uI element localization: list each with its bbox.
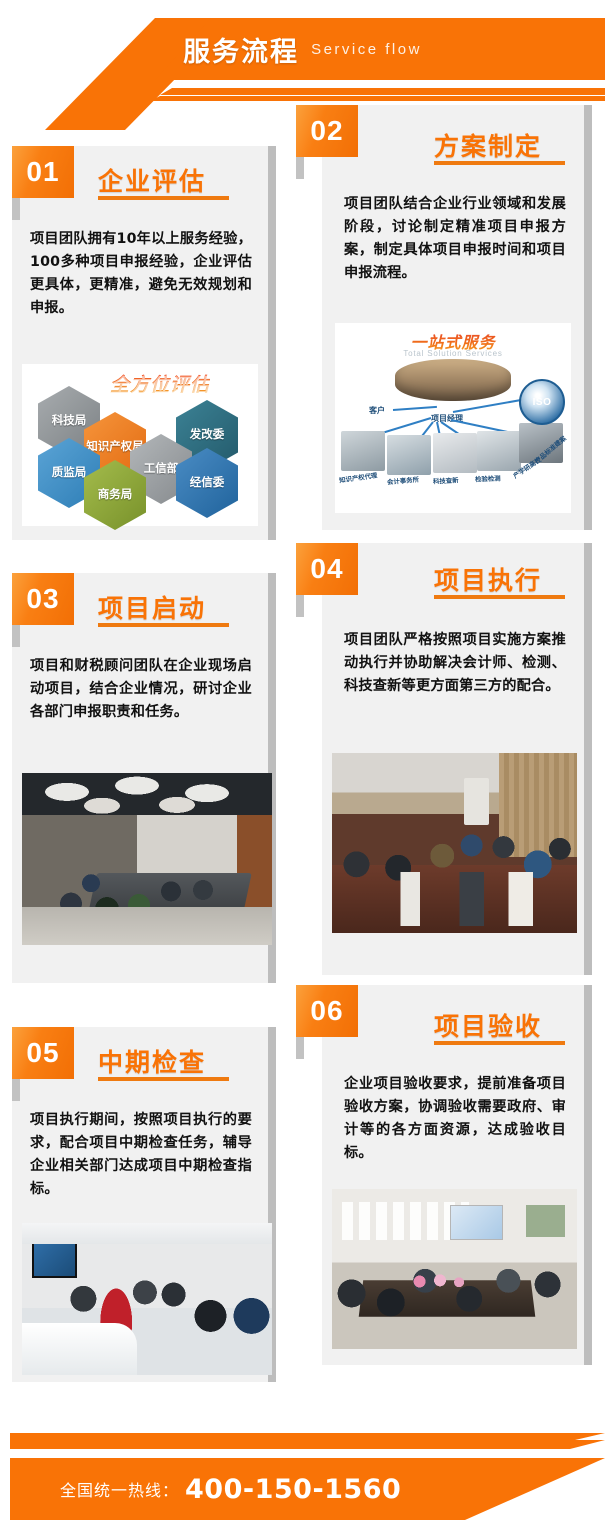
card-05-title: 中期检查 xyxy=(98,1043,206,1079)
card-06-badge-tail xyxy=(296,1037,304,1059)
flow-arrow xyxy=(393,406,437,411)
card-03-title: 项目启动 xyxy=(98,589,206,625)
card-04-title: 项目执行 xyxy=(434,561,542,597)
card-06-number-badge: 06 xyxy=(296,985,358,1037)
card-04-body: 项目团队严格按照项目实施方案推动执行并协助解决会计师、检测、科技查新等更方面第三… xyxy=(344,629,566,698)
card-01-media: 全方位评估 科技局 知识产权局 发改委 质监局 工信部 商务局 经信委 xyxy=(22,364,258,526)
card-01-number-badge: 01 xyxy=(12,146,74,198)
node-photo-ip-agency xyxy=(341,431,385,471)
card-01-title-rule xyxy=(98,196,229,200)
card-05-title-rule xyxy=(98,1077,229,1081)
ceiling-pattern xyxy=(22,773,272,815)
card-02-body: 项目团队结合企业行业领域和发展阶段，讨论制定精准项目申报方案，制定具体项目申报时… xyxy=(344,193,566,285)
card-03-body: 项目和财税顾问团队在企业现场启动项目，结合企业情况，研讨企业各部门申报职责和任务… xyxy=(30,655,252,724)
card-shadow xyxy=(584,985,592,1365)
footer-rule-thin xyxy=(10,1433,605,1440)
card-02[interactable]: 方案制定 项目团队结合企业行业领域和发展阶段，讨论制定精准项目申报方案，制定具体… xyxy=(322,105,584,530)
hexagon-node-label: 发改委 xyxy=(190,428,225,441)
card-02-number-badge: 02 xyxy=(296,105,358,157)
one-stop-client-label: 客户 xyxy=(369,405,385,416)
showroom-ceiling xyxy=(22,1223,272,1244)
one-stop-node-label: 科技查新 xyxy=(433,475,459,485)
card-06[interactable]: 项目验收 企业项目验收要求，提前准备项目验收方案，协调验收需要政府、审计等的各方… xyxy=(322,985,584,1365)
card-02-title-rule xyxy=(434,161,565,165)
card-01[interactable]: 企业评估 项目团队拥有10年以上服务经验，100多种项目申报经验，企业评估更具体… xyxy=(12,146,268,540)
card-05[interactable]: 中期检查 项目执行期间，按照项目执行的要求，配合项目中期检查任务，辅导企业相关部… xyxy=(12,1027,268,1382)
card-03-badge-tail xyxy=(12,625,20,647)
card-row-3: 中期检查 项目执行期间，按照项目执行的要求，配合项目中期检查任务，辅导企业相关部… xyxy=(0,985,605,1385)
card-01-title: 企业评估 xyxy=(98,162,206,198)
card-01-body: 项目团队拥有10年以上服务经验，100多种项目申报经验，企业评估更具体，更精准，… xyxy=(30,228,252,320)
card-06-body: 企业项目验收要求，提前准备项目验收方案，协调验收需要政府、审计等的各方面资源，达… xyxy=(344,1073,566,1165)
card-02-media: 一站式服务 Total Solution Services 客户 项目经理 知识… xyxy=(335,323,571,513)
white-counter xyxy=(22,1323,137,1375)
laptops-and-papers xyxy=(332,872,577,926)
card-02-badge-tail xyxy=(296,157,304,179)
hotline-number[interactable]: 400-150-1560 xyxy=(185,1474,401,1505)
card-row-1: 企业评估 项目团队拥有10年以上服务经验，100多种项目申报经验，企业评估更具体… xyxy=(0,100,605,540)
one-stop-node-label: 检验检测 xyxy=(475,474,501,484)
floor xyxy=(22,907,272,945)
card-01-badge-tail xyxy=(12,198,20,220)
node-photo-accounting xyxy=(387,435,431,475)
page-footer: 全国统一热线： 400-150-1560 xyxy=(0,1400,605,1538)
header-banner-shape xyxy=(155,18,605,80)
card-03-title-rule xyxy=(98,623,229,627)
card-05-number-badge: 05 xyxy=(12,1027,74,1079)
card-row-2: 项目启动 项目和财税顾问团队在企业现场启动项目，结合企业情况，研讨企业各部门申报… xyxy=(0,543,605,983)
hexagon-node-label: 经信委 xyxy=(190,476,225,489)
card-05-media xyxy=(22,1223,272,1375)
header-rule-thick xyxy=(160,88,605,95)
hexagon-infographic-title: 全方位评估 xyxy=(110,370,210,397)
presentation-screen xyxy=(450,1205,504,1240)
node-photo-tech-search xyxy=(433,433,477,473)
card-06-title-rule xyxy=(434,1041,565,1045)
card-04-media xyxy=(332,753,577,933)
card-06-media xyxy=(332,1189,577,1349)
one-stop-node-label: 会计事务所 xyxy=(387,475,420,487)
card-03[interactable]: 项目启动 项目和财税顾问团队在企业现场启动项目，结合企业情况，研讨企业各部门申报… xyxy=(12,573,268,983)
hexagon-node-label: 质监局 xyxy=(52,466,87,479)
iso-badge-icon xyxy=(519,379,565,425)
footer-hotline-group: 全国统一热线： 400-150-1560 xyxy=(60,1458,401,1520)
card-shadow xyxy=(268,146,276,540)
hexagon-node-label: 商务局 xyxy=(98,488,133,501)
card-06-title: 项目验收 xyxy=(434,1007,542,1043)
flowers-on-table xyxy=(406,1272,475,1291)
card-05-badge-tail xyxy=(12,1079,20,1101)
card-04-number-badge: 04 xyxy=(296,543,358,595)
card-shadow xyxy=(584,105,592,530)
green-board xyxy=(526,1205,565,1237)
hotline-label: 全国统一热线： xyxy=(60,1477,179,1501)
card-04[interactable]: 项目执行 项目团队严格按照项目实施方案推动执行并协助解决会计师、检测、科技查新等… xyxy=(322,543,584,975)
one-stop-node-label: 知识产权代理 xyxy=(339,470,378,484)
hexagon-node-label: 工信部 xyxy=(144,462,179,475)
card-02-title: 方案制定 xyxy=(434,127,542,163)
footer-rule-thick xyxy=(10,1440,605,1449)
one-stop-service-subtitle: Total Solution Services xyxy=(335,349,571,358)
hexagon-node-label: 科技局 xyxy=(52,414,87,427)
one-stop-hero-photo xyxy=(395,359,511,401)
card-04-badge-tail xyxy=(296,595,304,617)
node-photo-inspection xyxy=(477,431,521,471)
card-03-media xyxy=(22,773,272,945)
card-03-number-badge: 03 xyxy=(12,573,74,625)
card-shadow xyxy=(584,543,592,975)
card-05-body: 项目执行期间，按照项目执行的要求，配合项目中期检查任务，辅导企业相关部门达成项目… xyxy=(30,1109,252,1201)
card-04-title-rule xyxy=(434,595,565,599)
